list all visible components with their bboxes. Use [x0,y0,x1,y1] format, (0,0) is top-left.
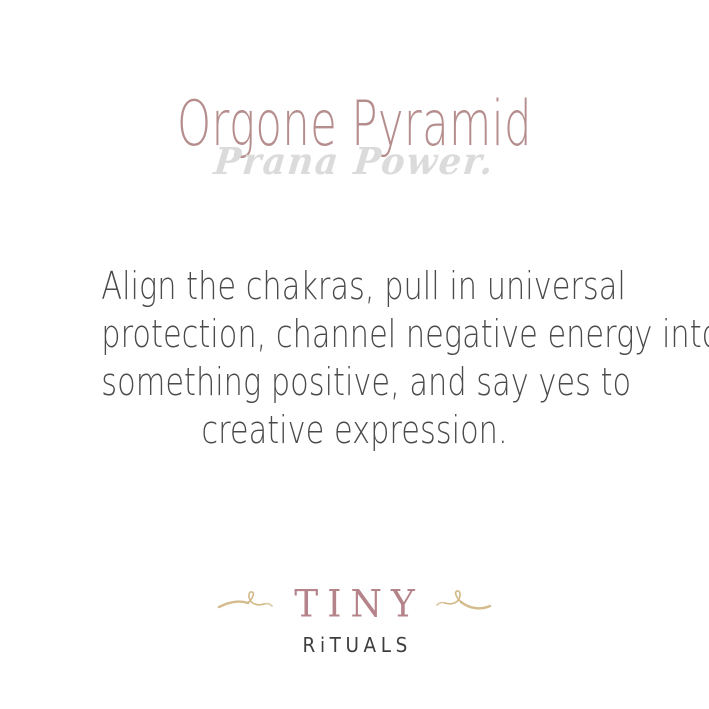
description-line: creative expression. [101,406,607,454]
brand-logo-top-row: TINY [217,583,492,627]
description-text: Align the chakras, pull in universal pro… [38,262,671,454]
description-line: Align the chakras, pull in universal [101,262,607,310]
brand-tagline: RiTUALS [298,634,412,656]
flourish-swash-left-icon [217,590,273,620]
description-line: protection, channel negative energy into [101,310,607,358]
description-line: something positive, and say yes to [101,358,607,406]
brand-logo: TINY RiTUALS [0,583,709,656]
product-quote-card: Orgone Pyramid Prana Power. Align the ch… [0,0,709,709]
flourish-swash-right-icon [436,590,492,620]
page-subtitle: Prana Power. [15,136,694,186]
brand-name: TINY [285,585,424,625]
